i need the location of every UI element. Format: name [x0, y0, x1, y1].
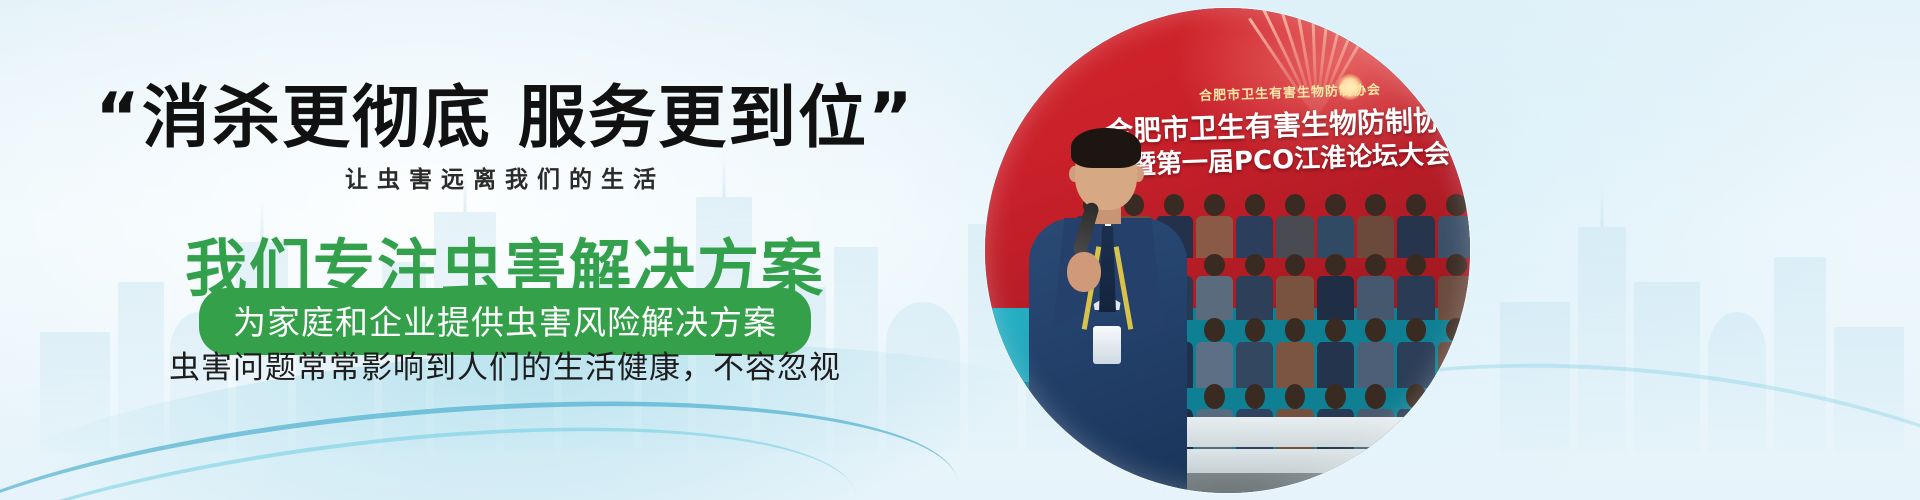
banner-headline: “消杀更彻底服务更到位” — [0, 62, 1010, 161]
hero-banner: “消杀更彻底服务更到位” 让虫害远离我们的生活 我们专注虫害解决方案 为家庭和企… — [0, 0, 1920, 500]
conference-photo: 合肥市卫生有害生物防制协会 合肥市卫生有害生物防制协会2023 暨第一届PCO江… — [985, 8, 1470, 493]
text-content-block: “消杀更彻底服务更到位” 让虫害远离我们的生活 我们专注虫害解决方案 为家庭和企… — [0, 0, 1010, 500]
banner-subline: 让虫害远离我们的生活 — [0, 160, 1010, 194]
photo-speaker — [1023, 126, 1193, 493]
headline-part-1: “消杀更彻底 — [95, 79, 492, 158]
headline-part-2: 服务更到位” — [518, 79, 915, 158]
speaker-badge — [1093, 326, 1121, 364]
banner-footer-line: 虫害问题常常影响到人们的生活健康，不容忽视 — [0, 342, 1010, 387]
